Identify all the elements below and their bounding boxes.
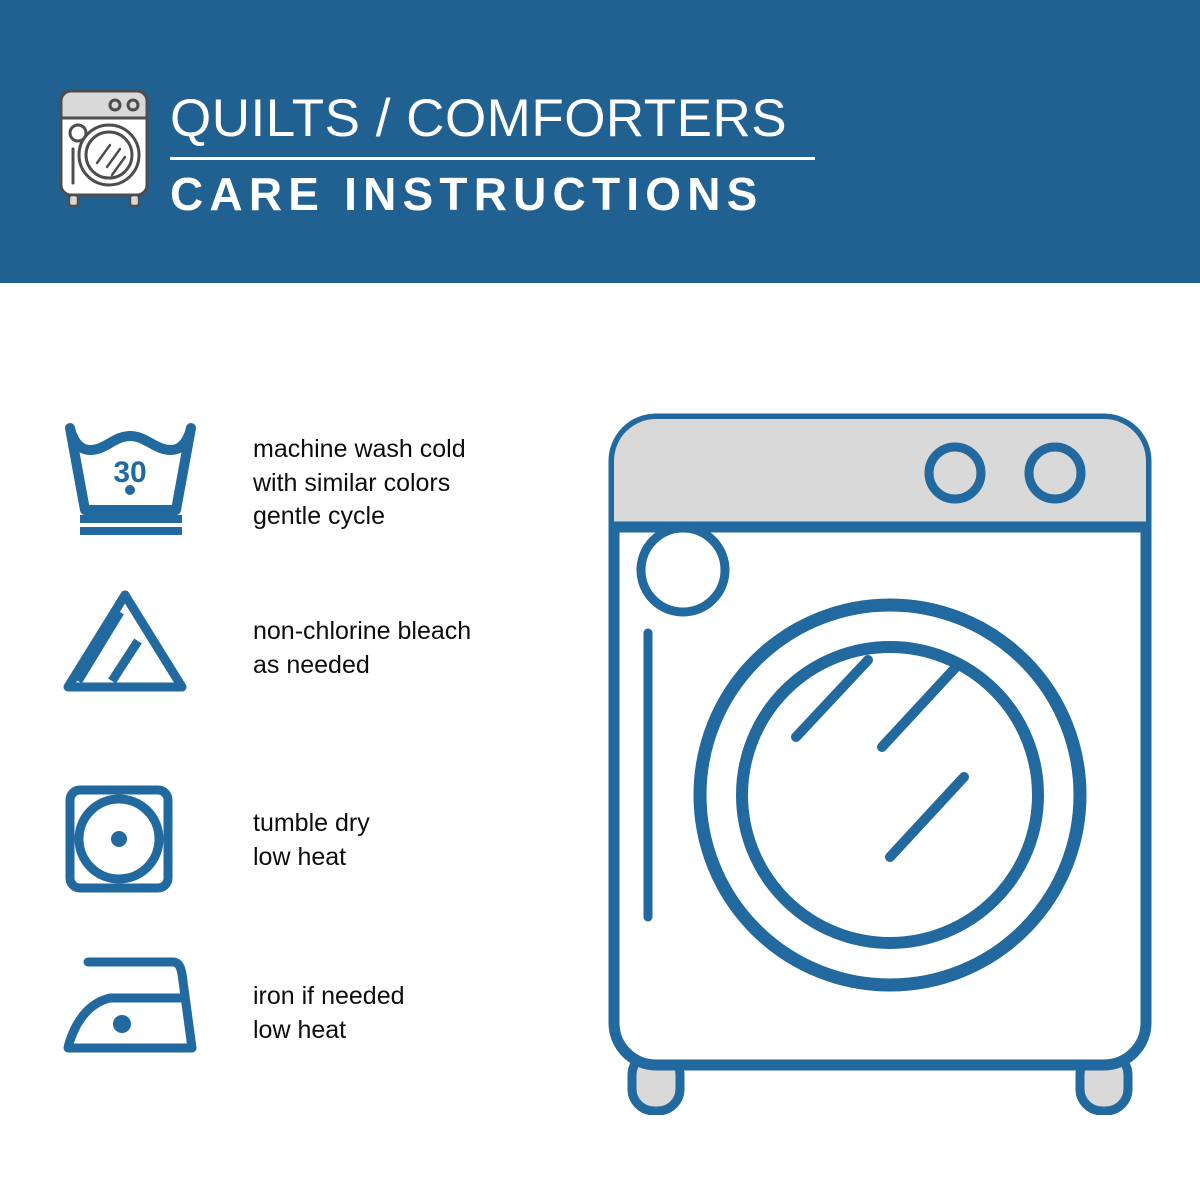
care-label-tumble-dry: tumble dry low heat bbox=[253, 807, 370, 874]
bleach-triangle-icon bbox=[60, 585, 190, 700]
header-title-block: QUILTS / COMFORTERS CARE INSTRUCTIONS bbox=[170, 88, 815, 222]
page-title-primary: QUILTS / COMFORTERS bbox=[170, 88, 815, 150]
washing-machine-logo-icon bbox=[52, 83, 156, 207]
care-row-wash: 30 machine wash cold with similar colors… bbox=[0, 420, 520, 550]
iron-icon bbox=[60, 950, 200, 1065]
care-row-iron: iron if needed low heat bbox=[0, 950, 520, 1075]
care-label-iron: iron if needed low heat bbox=[253, 980, 405, 1047]
washing-machine-illustration bbox=[600, 405, 1160, 1115]
header-band: QUILTS / COMFORTERS CARE INSTRUCTIONS bbox=[0, 0, 1200, 283]
control-panel bbox=[614, 419, 1146, 527]
wash-temperature-label: 30 bbox=[113, 456, 146, 489]
tumble-dry-icon bbox=[60, 780, 178, 903]
title-divider-rule bbox=[170, 157, 815, 160]
care-label-bleach: non-chlorine bleach as needed bbox=[253, 615, 471, 682]
page-title-secondary: CARE INSTRUCTIONS bbox=[170, 166, 815, 222]
care-label-wash: machine wash cold with similar colors ge… bbox=[253, 433, 466, 534]
care-row-bleach: non-chlorine bleach as needed bbox=[0, 585, 520, 710]
care-row-tumble-dry: tumble dry low heat bbox=[0, 780, 520, 905]
care-instructions-page: QUILTS / COMFORTERS CARE INSTRUCTIONS 30… bbox=[0, 0, 1200, 1200]
wash-tub-icon: 30 bbox=[60, 420, 212, 541]
